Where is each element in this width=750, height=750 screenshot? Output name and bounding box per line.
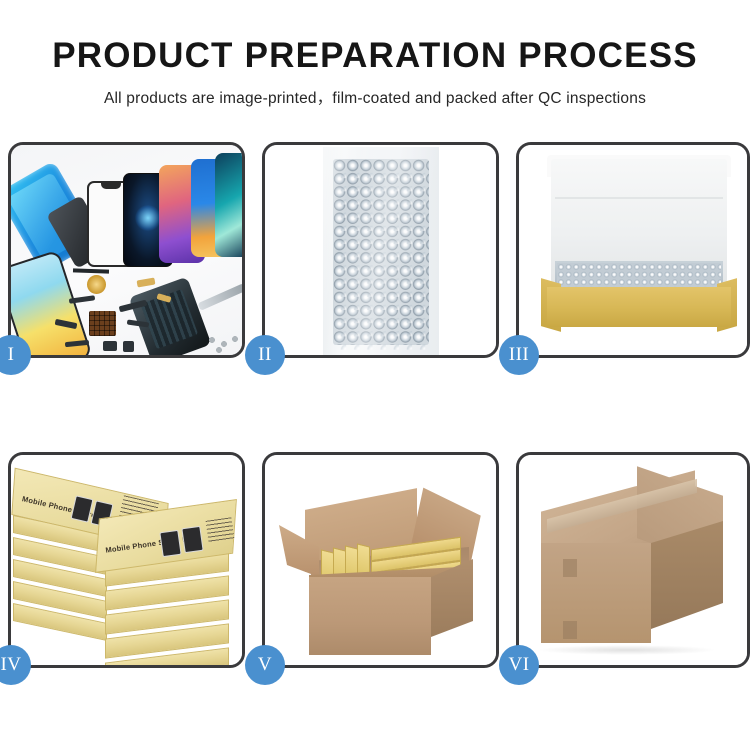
phone-logic-board-graphic [129,277,212,355]
sealed-carton-front-graphic [541,543,651,643]
step-badge-6: VI [499,645,539,685]
process-grid: I II III [8,142,742,668]
process-step-2: II [262,142,499,358]
bubble-wrapped-contents-graphic [557,263,721,289]
box-screen-print [159,530,181,557]
step-badge-2: II [245,335,285,375]
header: PRODUCT PREPARATION PROCESS All products… [0,0,750,108]
screws-graphic [207,335,241,353]
box-spec-lines [206,517,235,542]
step-5-image [265,455,496,665]
speaker-part-graphic [103,341,117,351]
step-1-image [11,145,242,355]
box-screen-print [181,526,203,553]
process-step-4: Mobile Phone Spare Parts Mobile Phone Sp… [8,452,245,668]
page-subtitle: All products are image-printed，film-coat… [0,73,750,108]
carton-tab-graphic [563,621,577,639]
camera-module-part-graphic [123,341,134,352]
process-step-5: V [262,452,499,668]
chip-grid-part-graphic [89,311,116,336]
lid-crease-graphic [555,197,723,199]
carton-front-graphic [309,577,431,655]
gold-coil-part-graphic [87,275,106,294]
antenna-strip-part-graphic [73,268,109,273]
process-step-1: I [8,142,245,358]
carton-tab-graphic [563,559,577,577]
plastic-gloss-graphic [323,145,439,355]
teal-wave-phone-graphic [215,153,242,257]
kraft-box-front-graphic [547,287,731,327]
page-title: PRODUCT PREPARATION PROCESS [0,0,750,73]
retail-box-stack-graphic: Mobile Phone Spare Parts Mobile Phone Sp… [11,455,242,665]
infographic-page: PRODUCT PREPARATION PROCESS All products… [0,0,750,750]
process-step-3: III [516,142,750,358]
step-badge-5: V [245,645,285,685]
gold-connector-part-graphic [137,277,156,287]
step-3-image [519,145,747,355]
step-6-image [519,455,747,665]
step-badge-3: III [499,335,539,375]
step-4-image: Mobile Phone Spare Parts Mobile Phone Sp… [11,455,242,665]
tweezers-tool-graphic [198,283,242,311]
process-step-6: VI [516,452,750,668]
carton-shadow [537,645,717,655]
step-2-image [265,145,496,355]
